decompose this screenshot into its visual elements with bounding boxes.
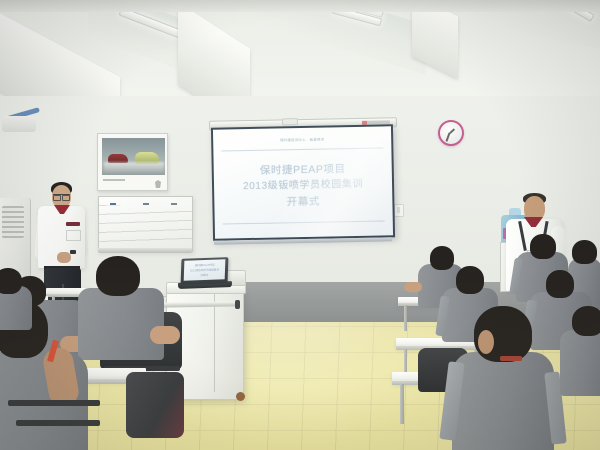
podium-laptop[interactable]: 保时捷PEAP项目 2013级钣喷学员校园集训 开幕式 <box>181 257 229 285</box>
poster-brand-logo-icon <box>155 180 161 188</box>
whiteboard-marker-icon <box>171 203 177 205</box>
poster-caption <box>103 179 125 181</box>
laptop-slide-line-3: 开幕式 <box>184 273 225 278</box>
laptop-screen: 保时捷PEAP项目 2013级钣喷学员校园集训 开幕式 <box>184 259 226 280</box>
whiteboard-marker-tray <box>98 248 192 253</box>
whiteboard-marker-icon <box>110 203 116 205</box>
student-head <box>0 268 22 294</box>
wall-clock <box>438 120 464 146</box>
student-head <box>530 234 556 259</box>
slide-header-text: 保时捷培训中心 · 钣金喷涂 <box>213 135 391 143</box>
student-arm <box>404 282 422 292</box>
student-head <box>96 256 140 296</box>
chair-frame <box>8 400 100 406</box>
clock-minute-hand <box>446 133 450 142</box>
student-head <box>430 246 454 270</box>
wristwatch-icon <box>70 250 76 254</box>
desk-leg <box>404 305 407 331</box>
student-head <box>572 240 597 264</box>
student-head <box>572 306 600 336</box>
student-torso <box>452 352 554 450</box>
projection-screen-surface: 保时捷培训中心 · 钣金喷涂 保时捷PEAP项目 2013级钣喷学员校园集训 开… <box>213 126 393 238</box>
collar-trim <box>500 356 522 361</box>
shirt-pocket <box>66 230 81 241</box>
podium-panel-seam <box>214 292 215 392</box>
backpack <box>126 372 184 438</box>
chair-frame <box>16 420 100 426</box>
slide-divider-top <box>221 147 383 151</box>
ceiling <box>0 0 600 96</box>
slide-line-3: 开幕式 <box>214 192 392 211</box>
presenter-left-name-badge <box>66 222 80 226</box>
screen-roller-knob <box>282 118 298 125</box>
slide-title-block: 保时捷PEAP项目 2013级钣喷学员校园集训 开幕式 <box>214 160 393 211</box>
framed-racing-poster <box>97 133 168 191</box>
projection-screen: 保时捷培训中心 · 钣金喷涂 保时捷PEAP项目 2013级钣喷学员校园集训 开… <box>211 124 395 240</box>
whiteboard-marker-icon <box>143 203 149 205</box>
caster-wheel <box>236 392 245 401</box>
glasses-icon <box>53 194 70 199</box>
student-head <box>546 270 574 298</box>
desk-leg <box>400 384 404 424</box>
poster-image <box>102 138 165 175</box>
rail-end-cap <box>235 300 240 309</box>
student-torso <box>78 288 164 360</box>
whiteboard-ruled-lines <box>99 205 192 245</box>
student-torso <box>560 330 600 396</box>
classroom-photo: 保时捷培训中心 · 钣金喷涂 保时捷PEAP项目 2013级钣喷学员校园集训 开… <box>0 0 600 450</box>
light-switch[interactable] <box>394 204 404 217</box>
ceiling-soffit <box>0 0 600 12</box>
student-ear <box>478 330 494 354</box>
presenter-left-hands <box>57 252 71 263</box>
poster-water-spray <box>104 162 164 174</box>
slide-divider-bottom <box>223 220 385 224</box>
student-head <box>456 266 484 294</box>
ac-wall-mount <box>2 116 36 132</box>
student-arm <box>150 326 180 344</box>
ac-vent-grille-icon <box>2 206 24 238</box>
